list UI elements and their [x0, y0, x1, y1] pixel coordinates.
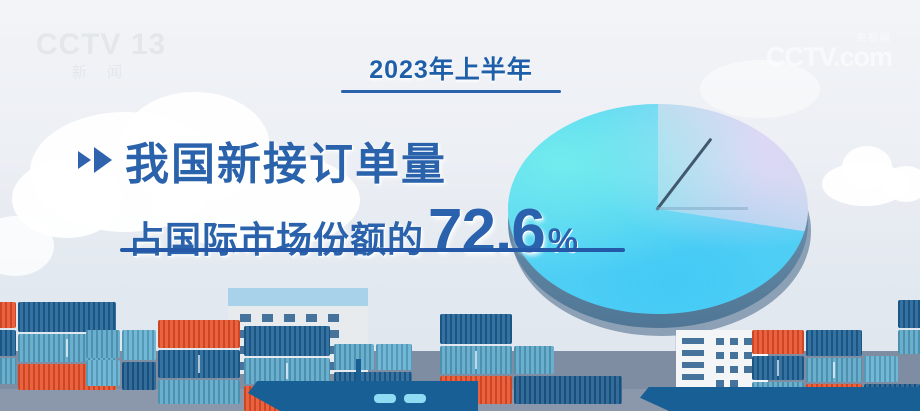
cctv-com-watermark-main: CCTV.com	[722, 44, 892, 71]
warehouse-left-roof	[228, 288, 368, 306]
headline-line-2: 占国际市场份额的 72.6 %	[128, 196, 578, 267]
container	[898, 330, 920, 354]
double-chevron-right-icon-a	[78, 151, 91, 169]
cctv-13-watermark-main: CCTV 13	[26, 30, 176, 60]
container	[898, 300, 920, 328]
container	[440, 314, 512, 344]
container	[0, 330, 16, 356]
cargo-ship-right-hull	[640, 387, 920, 411]
container	[514, 376, 622, 404]
subtitle-block: 2023年上半年	[341, 50, 561, 93]
container	[122, 330, 156, 360]
cctv-13-watermark: CCTV 13 新 闻	[26, 30, 176, 86]
headline-percent-sign: %	[548, 222, 578, 261]
cctv-13-watermark-sub: 新 闻	[26, 65, 176, 80]
cargo-ship-right	[640, 377, 920, 411]
container	[0, 358, 16, 384]
container	[122, 362, 156, 390]
container	[158, 320, 240, 348]
cargo-ship-mast	[356, 359, 361, 383]
headline-underline	[120, 248, 625, 252]
container	[514, 346, 554, 374]
cargo-ship-porthole	[404, 394, 426, 403]
infographic-canvas: CCTV 13 新 闻 央视网 CCTV.com 2023年上半年 我国新接订单…	[0, 0, 920, 411]
container	[18, 302, 116, 332]
headline-percentage-value: 72.6	[428, 196, 545, 267]
headline-line-2-prefix: 占国际市场份额的	[128, 211, 424, 263]
container	[158, 380, 240, 404]
subtitle-text: 2023年上半年	[341, 50, 561, 86]
container	[752, 330, 804, 354]
subtitle-underline	[341, 90, 561, 93]
container	[0, 302, 16, 328]
cargo-ship-hull	[248, 381, 478, 411]
cargo-ship	[248, 359, 478, 411]
headline-line-1: 我国新接订单量	[78, 128, 447, 192]
headline-line-1-text: 我国新接订单量	[125, 128, 447, 192]
cctv-com-watermark: 央视网 CCTV.com	[722, 32, 892, 74]
pie-slice-divider-secondary	[656, 207, 748, 210]
cargo-ship-porthole	[374, 394, 396, 403]
container	[244, 326, 330, 356]
container	[806, 330, 862, 356]
container	[86, 330, 120, 358]
container	[158, 350, 240, 378]
container	[86, 360, 120, 386]
double-chevron-right-icon-b	[94, 147, 112, 173]
